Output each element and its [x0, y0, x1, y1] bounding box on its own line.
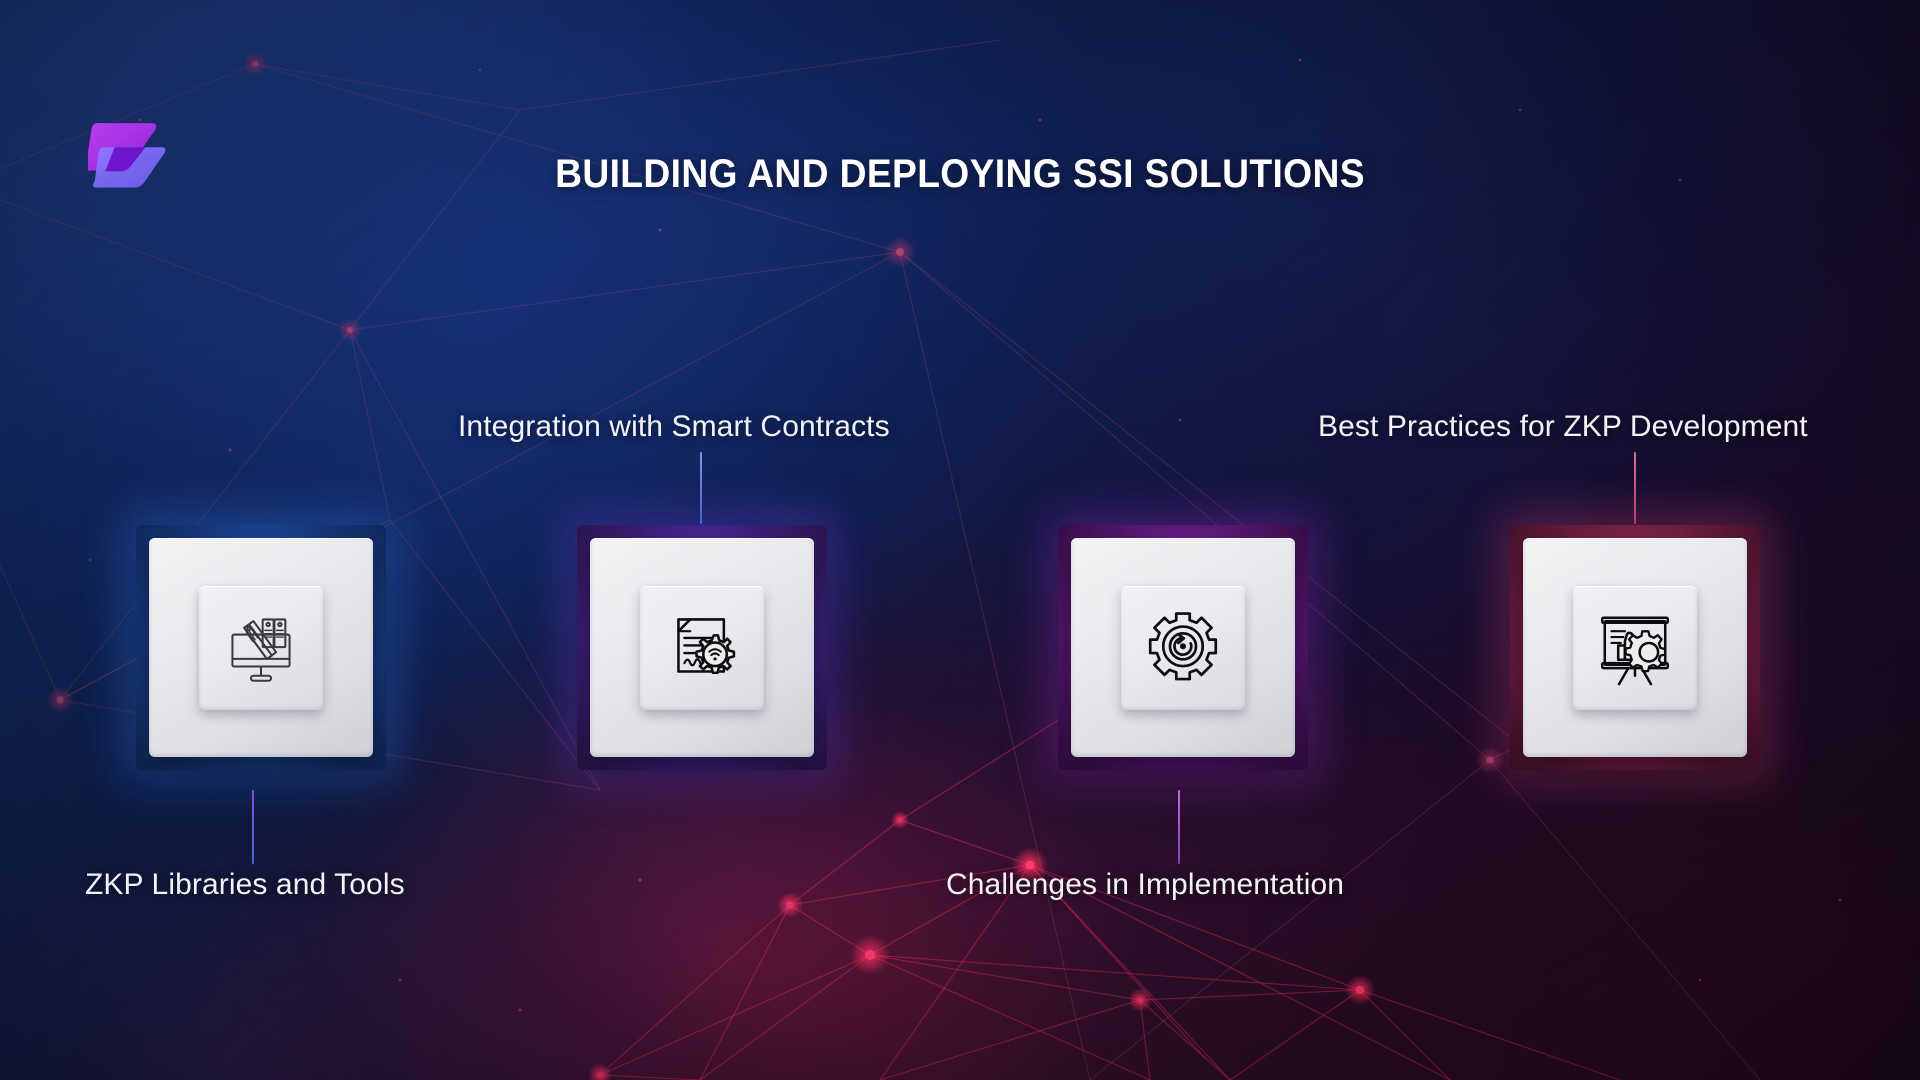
connector-best-practices — [1634, 452, 1636, 524]
card-zkp-libraries[interactable] — [136, 525, 386, 770]
connector-smart-contracts — [700, 452, 702, 524]
card-best-practices[interactable] — [1510, 525, 1760, 770]
card-label-best-practices: Best Practices for ZKP Development — [1318, 410, 1808, 444]
connector-zkp-libraries — [252, 790, 254, 864]
card-label-zkp-libraries: ZKP Libraries and Tools — [85, 868, 405, 902]
card-challenges[interactable] — [1058, 525, 1308, 770]
card-label-smart-contracts: Integration with Smart Contracts — [458, 410, 890, 444]
card-label-challenges: Challenges in Implementation — [946, 868, 1344, 902]
contract-gear-wifi-icon — [660, 606, 744, 690]
monitor-books-icon — [219, 606, 303, 690]
card-icon-tile — [1121, 586, 1245, 710]
slide-canvas: BUILDING AND DEPLOYING SSI SOLUTIONS — [0, 0, 1920, 1080]
gear-refresh-icon — [1141, 606, 1225, 690]
card-smart-contracts[interactable] — [577, 525, 827, 770]
card-icon-tile — [199, 586, 323, 710]
presentation-thumbsup-gear-icon — [1593, 606, 1677, 690]
connector-challenges — [1178, 790, 1180, 864]
card-icon-tile — [640, 586, 764, 710]
page-title: BUILDING AND DEPLOYING SSI SOLUTIONS — [67, 152, 1853, 197]
card-icon-tile — [1573, 586, 1697, 710]
